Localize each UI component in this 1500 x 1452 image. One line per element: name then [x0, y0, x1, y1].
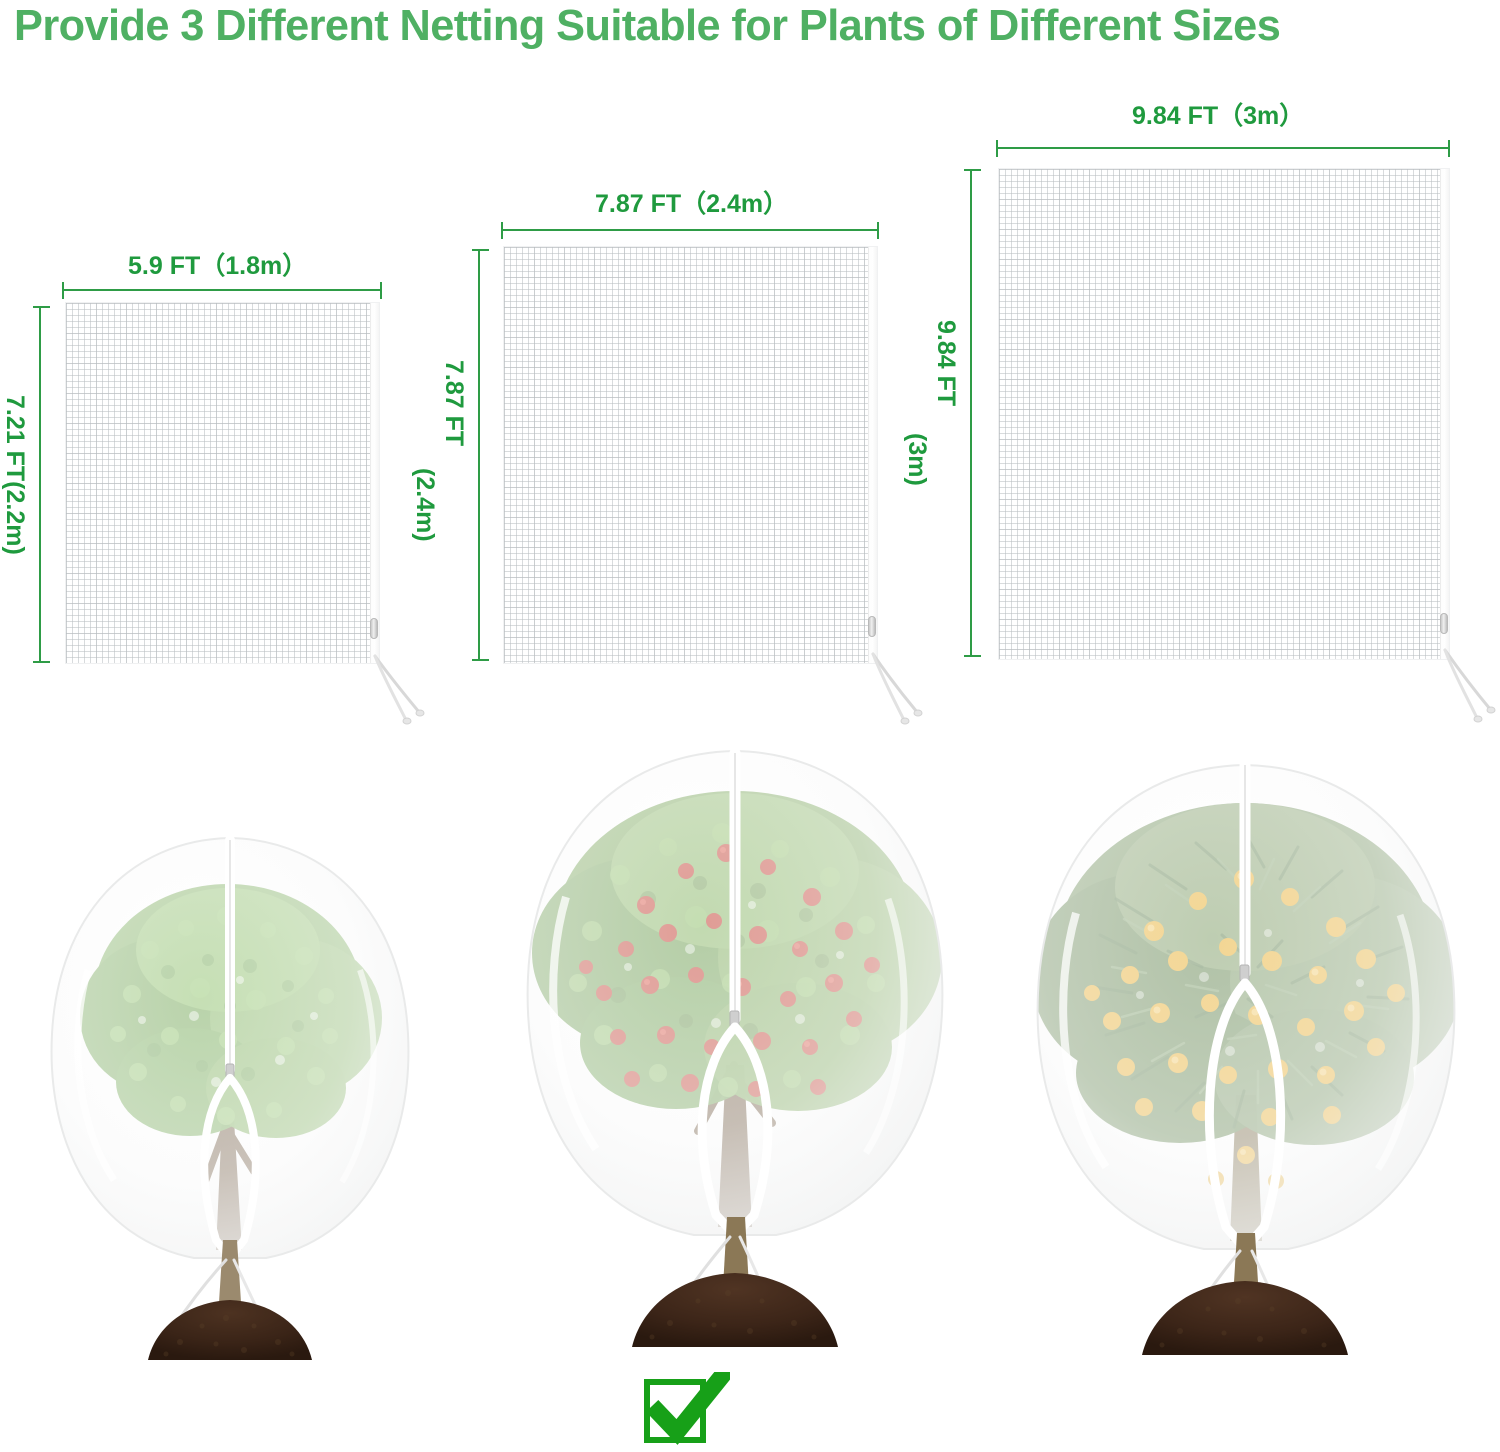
netting-panel-large: 9.84 FT（3m） 9.84 FT (3m): [910, 90, 1500, 720]
panel-large-height-tick-top: [964, 169, 981, 171]
panel-medium-width-tick-right: [877, 222, 879, 239]
panel-medium-cord-lock: [868, 616, 876, 637]
panel-small-cord-lock: [370, 618, 378, 639]
panel-small-height-dimline: [39, 306, 41, 663]
panel-large-height-label-ft: 9.84 FT: [931, 320, 961, 406]
panel-large-width-dimline: [996, 147, 1450, 149]
infographic-canvas: Provide 3 Different Netting Suitable for…: [0, 0, 1500, 1452]
recommended-check: [640, 1372, 730, 1452]
panel-small-mesh: [65, 302, 380, 664]
panel-small-width-tick-left: [62, 282, 64, 299]
panel-large-cord-lock: [1440, 613, 1448, 634]
panel-large-mesh: [998, 168, 1450, 660]
panel-medium-width-label: 7.87 FT（2.4m）: [595, 184, 788, 220]
panel-medium-height-tick-top: [472, 249, 489, 251]
covered-tree-medium: [500, 735, 970, 1365]
panel-small-width-label: 5.9 FT（1.8m）: [128, 246, 307, 282]
panel-medium-width-tick-left: [501, 222, 503, 239]
panel-large-width-tick-left: [996, 140, 998, 157]
panel-large-hem: [1440, 169, 1449, 659]
panel-small-height-tick-bottom: [33, 661, 50, 663]
panel-large-height-label-m: (3m): [902, 433, 932, 486]
panel-large-height-tick-bottom: [964, 655, 981, 657]
panel-small-width-tick-right: [380, 282, 382, 299]
panel-medium-height-label-ft: 7.87 FT: [439, 360, 469, 446]
green-check-icon: [640, 1372, 730, 1452]
panel-medium-height-tick-bottom: [472, 659, 489, 661]
panel-large-width-label: 9.84 FT（3m）: [1132, 96, 1304, 132]
covered-tree-large: [1020, 755, 1470, 1370]
panel-small-height-tick-top: [33, 306, 50, 308]
panel-medium-width-dimline: [501, 229, 879, 231]
panel-small-hem: [370, 303, 379, 663]
panel-medium-height-label-m: (2.4m): [410, 468, 440, 542]
panel-large-drawstrings: [1442, 646, 1500, 726]
panel-small-width-dimline: [62, 289, 382, 291]
panel-medium-mesh: [503, 246, 878, 664]
covered-tree-small: [30, 820, 430, 1380]
panel-small-height-label: 7.21 FT(2.2m): [0, 395, 30, 555]
tree-small-soil-mound: [148, 1300, 312, 1360]
tree-medium-soil-mound: [632, 1273, 838, 1347]
panel-large-height-dimline: [970, 169, 972, 657]
panel-large-width-tick-right: [1448, 140, 1450, 157]
netting-panel-medium: 7.87 FT（2.4m） 7.87 FT (2.4m): [430, 180, 910, 720]
tree-large-soil-mound: [1142, 1281, 1348, 1355]
panel-medium-hem: [868, 247, 877, 663]
panel-medium-height-dimline: [478, 249, 480, 661]
netting-panel-small: 5.9 FT（1.8m） 7.21 FT(2.2m): [0, 240, 420, 720]
page-title: Provide 3 Different Netting Suitable for…: [14, 0, 1464, 52]
